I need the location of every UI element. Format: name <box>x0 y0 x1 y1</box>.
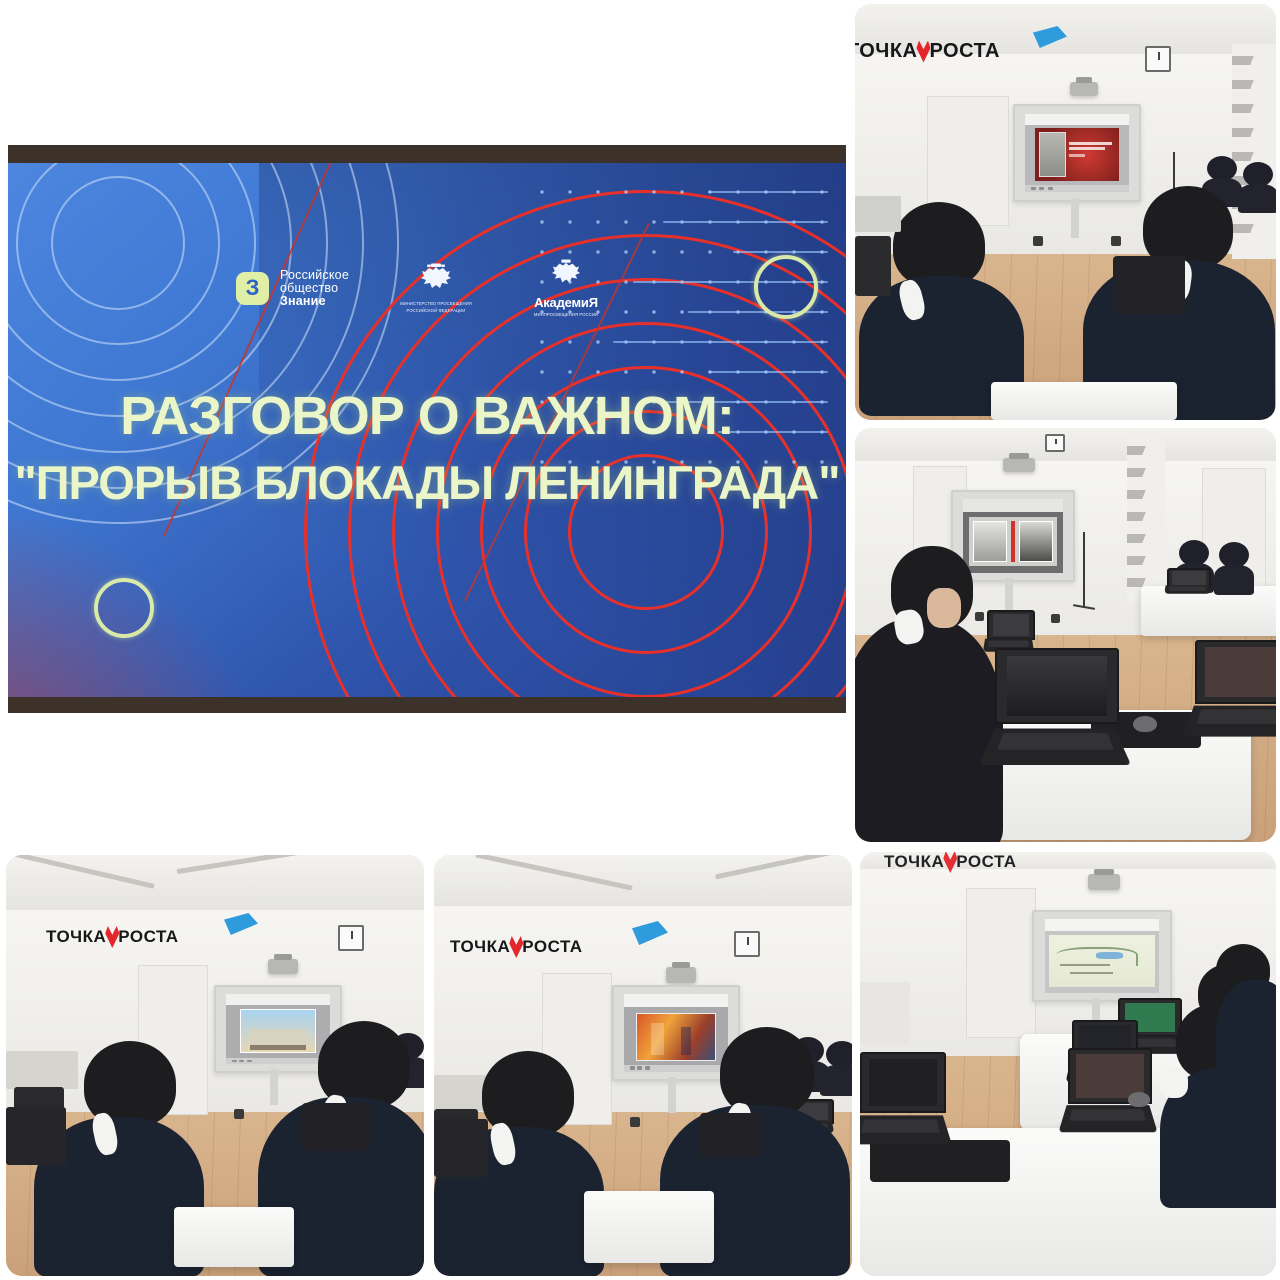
projector <box>1070 82 1098 96</box>
student-small <box>1219 542 1249 592</box>
desk <box>584 1191 714 1263</box>
logo-ministry-of-education: МИНИСТЕРСТВО ПРОСВЕЩЕНИЯ РОССИЙСКОЙ ФЕДЕ… <box>393 263 479 313</box>
tochka-rosta-word-2: РОСТА <box>956 852 1016 872</box>
photo-bottom-left: ТОЧКА РОСТА <box>6 855 424 1276</box>
academy-wordmark: АкадемиЯ <box>534 295 598 310</box>
board-slide-content <box>1035 128 1118 182</box>
board-screen <box>226 994 330 1065</box>
student-shoulders <box>855 618 1003 842</box>
projector <box>666 967 696 983</box>
chair-back <box>6 1107 66 1165</box>
laptop[interactable] <box>987 610 1031 652</box>
tochka-rosta-word-1: ТОЧКА <box>884 852 944 872</box>
monitor <box>855 236 891 296</box>
znanie-line-1: Российское <box>280 269 349 282</box>
wall-clock-icon <box>1045 434 1065 452</box>
student-small <box>826 1041 852 1093</box>
projector <box>268 959 298 974</box>
slide-frame-top <box>8 145 846 163</box>
znanie-line-3: Знание <box>280 294 326 308</box>
tochka-rosta-word-2: РОСТА <box>522 937 582 957</box>
side-cabinet <box>855 196 901 232</box>
slide-title: РАЗГОВОР О ВАЖНОМ: <box>8 385 846 447</box>
board-screen <box>963 499 1064 573</box>
door <box>966 888 1036 1038</box>
mouse[interactable] <box>1128 1092 1150 1107</box>
student-hands <box>927 588 961 628</box>
laptop[interactable] <box>1068 1048 1148 1132</box>
academy-caption-line-1: МИНПРОСВЕЩЕНИЯ РОССИИ <box>534 312 598 317</box>
classroom-scene: ТОЧКА РОСТА <box>855 4 1276 420</box>
student-shoulders <box>1216 980 1276 1100</box>
photo-top-right: ТОЧКА РОСТА <box>855 4 1276 420</box>
tochka-rosta-wall-logo: ТОЧКА РОСТА <box>450 937 583 957</box>
board-screen <box>1025 114 1129 193</box>
slide-logo-row: З Российское общество Знание <box>236 259 609 317</box>
decorative-ring-top-right <box>754 255 818 319</box>
tochka-rosta-word-1: ТОЧКА <box>46 927 106 947</box>
projector <box>1003 458 1035 472</box>
mouse-pad <box>870 1140 1010 1182</box>
laptop[interactable] <box>860 1052 942 1144</box>
ministry-caption-line-2: РОССИЙСКОЙ ФЕДЕРАЦИИ <box>407 308 466 313</box>
slide-subtitle: "ПРОРЫВ БЛОКАДЫ ЛЕНИНГРАДА" <box>8 455 846 510</box>
classroom-scene: ТОЧКА РОСТА <box>6 855 424 1276</box>
projector <box>1088 874 1120 890</box>
presentation-slide-photo: З Российское общество Знание <box>8 145 846 713</box>
photo-bottom-right: ТОЧКА РОСТА <box>860 852 1276 1276</box>
double-headed-eagle-icon <box>419 263 453 299</box>
side-cabinet <box>6 1051 78 1089</box>
chair-back <box>1113 256 1185 314</box>
chevron-wall-panel <box>1127 438 1165 603</box>
double-headed-eagle-icon <box>549 259 583 293</box>
desk <box>991 382 1177 420</box>
student-small <box>1243 162 1273 210</box>
znanie-wordmark: Российское общество Знание <box>280 269 349 308</box>
logo-znanie: З Российское общество Знание <box>236 269 349 308</box>
board-slide-content <box>1049 935 1154 987</box>
chair-back <box>700 1113 762 1157</box>
photo-bottom-middle: ТОЧКА РОСТА <box>434 855 852 1276</box>
classroom-scene: ТОЧКА РОСТА <box>860 852 1276 1276</box>
ceiling <box>855 428 1276 465</box>
board-screen <box>1045 919 1159 993</box>
chair-back <box>434 1119 488 1177</box>
slide-frame-bottom <box>8 697 846 713</box>
tochka-rosta-word-1: ТОЧКА <box>855 40 917 63</box>
laptop[interactable] <box>1167 568 1207 594</box>
interactive-board[interactable] <box>1013 104 1141 202</box>
chevron-wall-panel <box>1232 44 1276 259</box>
tochka-rosta-wall-logo: ТОЧКА РОСТА <box>855 40 1000 63</box>
board-slide-content <box>969 517 1058 566</box>
tochka-rosta-word-2: РОСТА <box>929 40 999 63</box>
tochka-rosta-wall-logo: ТОЧКА РОСТА <box>46 927 179 947</box>
tochka-rosta-wall-logo: ТОЧКА РОСТА <box>884 852 1017 872</box>
decorative-ring-bottom-left <box>94 578 154 638</box>
wall-clock-icon <box>338 925 364 951</box>
mouse[interactable] <box>1133 716 1157 732</box>
chair-back <box>302 1103 370 1151</box>
interactive-board[interactable] <box>951 490 1075 582</box>
classroom-scene: ТОЧКА РОСТА <box>434 855 852 1276</box>
laptop[interactable] <box>995 648 1115 764</box>
ministry-caption-line-1: МИНИСТЕРСТВО ПРОСВЕЩЕНИЯ <box>400 301 472 306</box>
wall-clock-icon <box>734 931 760 957</box>
logo-academy: АкадемиЯ МИНПРОСВЕЩЕНИЯ РОССИИ <box>523 259 609 317</box>
znanie-mark-icon: З <box>236 272 269 305</box>
student-collar <box>1160 1068 1188 1098</box>
board-screen <box>624 994 728 1071</box>
classroom-scene <box>855 428 1276 842</box>
board-slide-content <box>636 1013 715 1061</box>
board-slide-content <box>240 1009 315 1053</box>
photo-collage: З Российское общество Знание <box>0 0 1280 1280</box>
laptop[interactable] <box>1195 640 1276 736</box>
slide-canvas: З Российское общество Знание <box>8 163 846 697</box>
desk <box>174 1207 294 1267</box>
tochka-rosta-word-1: ТОЧКА <box>450 937 510 957</box>
photo-middle-right <box>855 428 1276 842</box>
desk <box>1141 586 1276 636</box>
wall-clock-icon <box>1145 46 1171 72</box>
tochka-rosta-word-2: РОСТА <box>118 927 178 947</box>
side-cabinet <box>860 982 910 1044</box>
interactive-board[interactable] <box>1032 910 1172 1002</box>
